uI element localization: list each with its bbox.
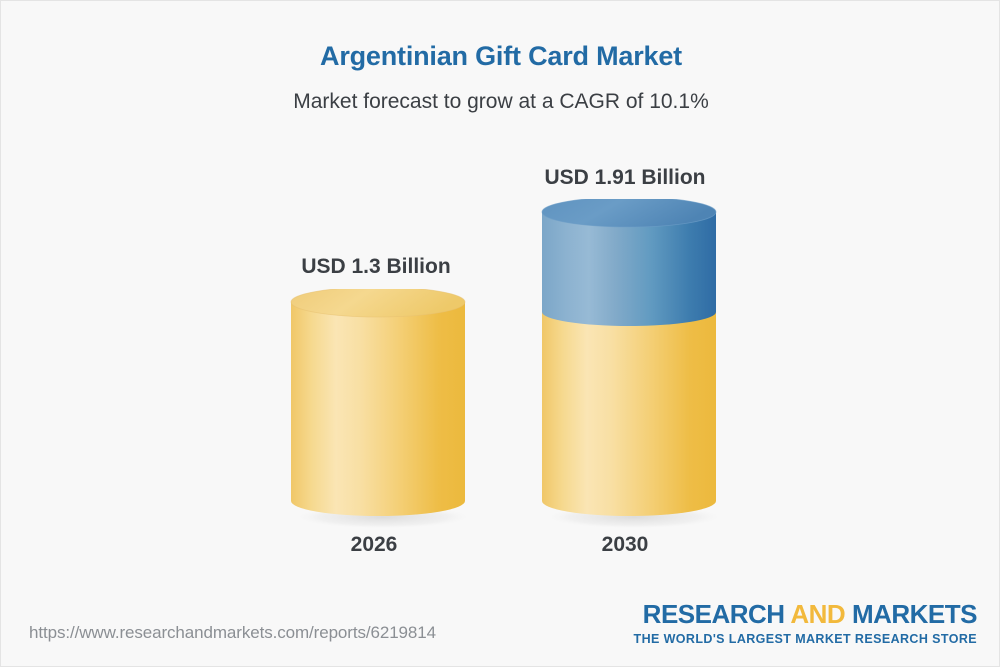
logo-wordmark: RESEARCH AND MARKETS [634,601,977,627]
value-label-2030: USD 1.91 Billion [495,166,755,190]
cylinder-body-2026 [291,302,465,516]
cylinder-segment-gold-2030 [542,312,716,516]
cylinder-bar-2026[interactable] [287,289,469,529]
value-label-2026: USD 1.3 Billion [246,255,506,279]
research-and-markets-logo[interactable]: RESEARCH AND MARKETS THE WORLD'S LARGEST… [634,601,977,646]
logo-word-research: RESEARCH [643,599,785,629]
cylinder-segment-blue-2030 [542,212,716,326]
logo-word-and: AND [790,599,845,629]
category-label-2030: 2030 [495,533,755,557]
category-label-2026: 2026 [244,533,504,557]
chart-canvas: Argentinian Gift Card Market Market fore… [0,0,1000,667]
report-url[interactable]: https://www.researchandmarkets.com/repor… [29,623,436,643]
logo-tagline: THE WORLD'S LARGEST MARKET RESEARCH STOR… [634,632,977,646]
cylinder-bar-2030[interactable] [538,199,720,529]
logo-word-markets: MARKETS [852,599,977,629]
plot-area: USD 1.3 Billion [1,1,1000,601]
